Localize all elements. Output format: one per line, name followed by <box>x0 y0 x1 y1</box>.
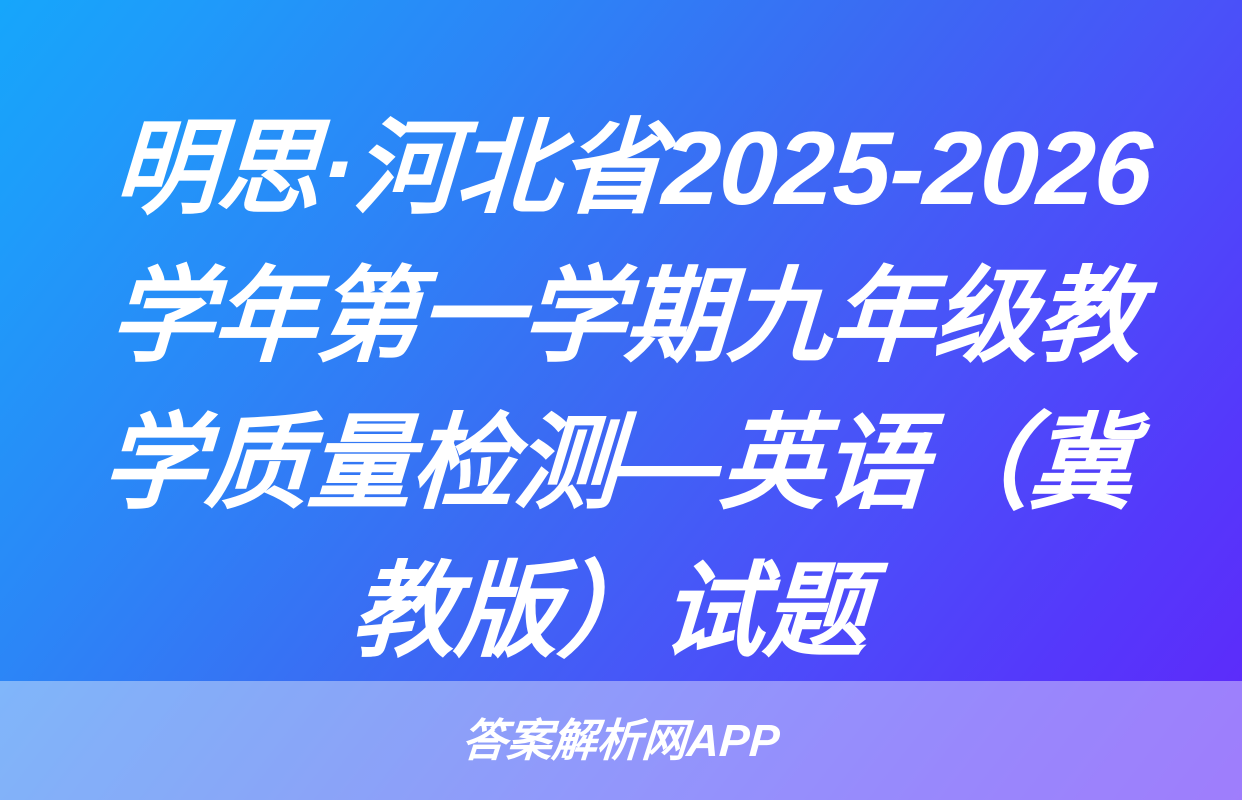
app-watermark-label: 答案解析网APP <box>461 718 782 763</box>
title-block: 明思·河北省2025-2026学年第一学期九年级教学质量检测—英语（冀教版）试题 <box>0 96 1242 687</box>
cover-card: 明思·河北省2025-2026学年第一学期九年级教学质量检测—英语（冀教版）试题… <box>0 0 1242 800</box>
app-watermark-banner: 答案解析网APP <box>0 681 1242 800</box>
page-title: 明思·河北省2025-2026学年第一学期九年级教学质量检测—英语（冀教版）试题 <box>63 96 1180 687</box>
